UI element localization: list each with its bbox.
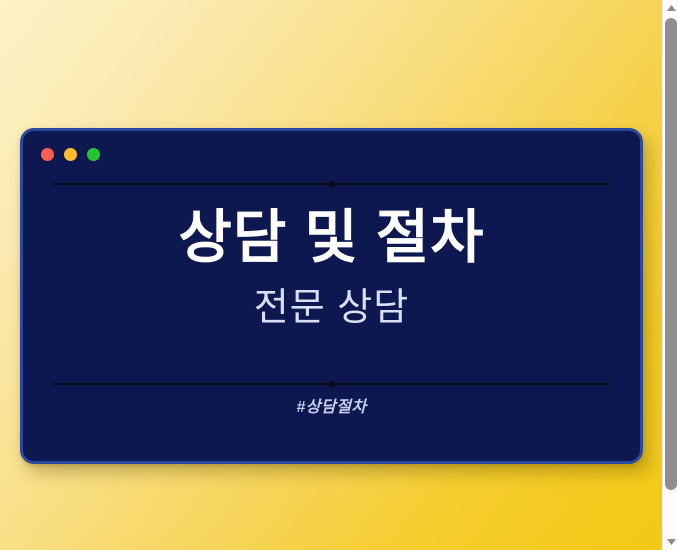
slide-text-block: 상담 및 절차 전문 상담: [23, 185, 640, 383]
scroll-up-arrow-icon[interactable]: [663, 0, 678, 16]
slide-hashtag: #상담절차: [23, 393, 640, 417]
window-controls: [41, 148, 100, 161]
vertical-scrollbar[interactable]: [662, 0, 678, 550]
browser-viewport: 상담 및 절차 전문 상담 #상담절차: [0, 0, 678, 550]
page-canvas: 상담 및 절차 전문 상담 #상담절차: [0, 0, 662, 550]
close-dot-icon[interactable]: [41, 148, 54, 161]
divider-center-dot-icon: [328, 381, 335, 388]
slide-card[interactable]: 상담 및 절차 전문 상담 #상담절차: [20, 128, 643, 464]
maximize-dot-icon[interactable]: [87, 148, 100, 161]
slide-title: 상담 및 절차: [178, 207, 484, 270]
divider-bottom: [53, 383, 610, 385]
slide-subtitle: 전문 상담: [254, 288, 409, 330]
scrollbar-thumb[interactable]: [665, 18, 677, 490]
minimize-dot-icon[interactable]: [64, 148, 77, 161]
scroll-down-arrow-icon[interactable]: [663, 534, 678, 550]
